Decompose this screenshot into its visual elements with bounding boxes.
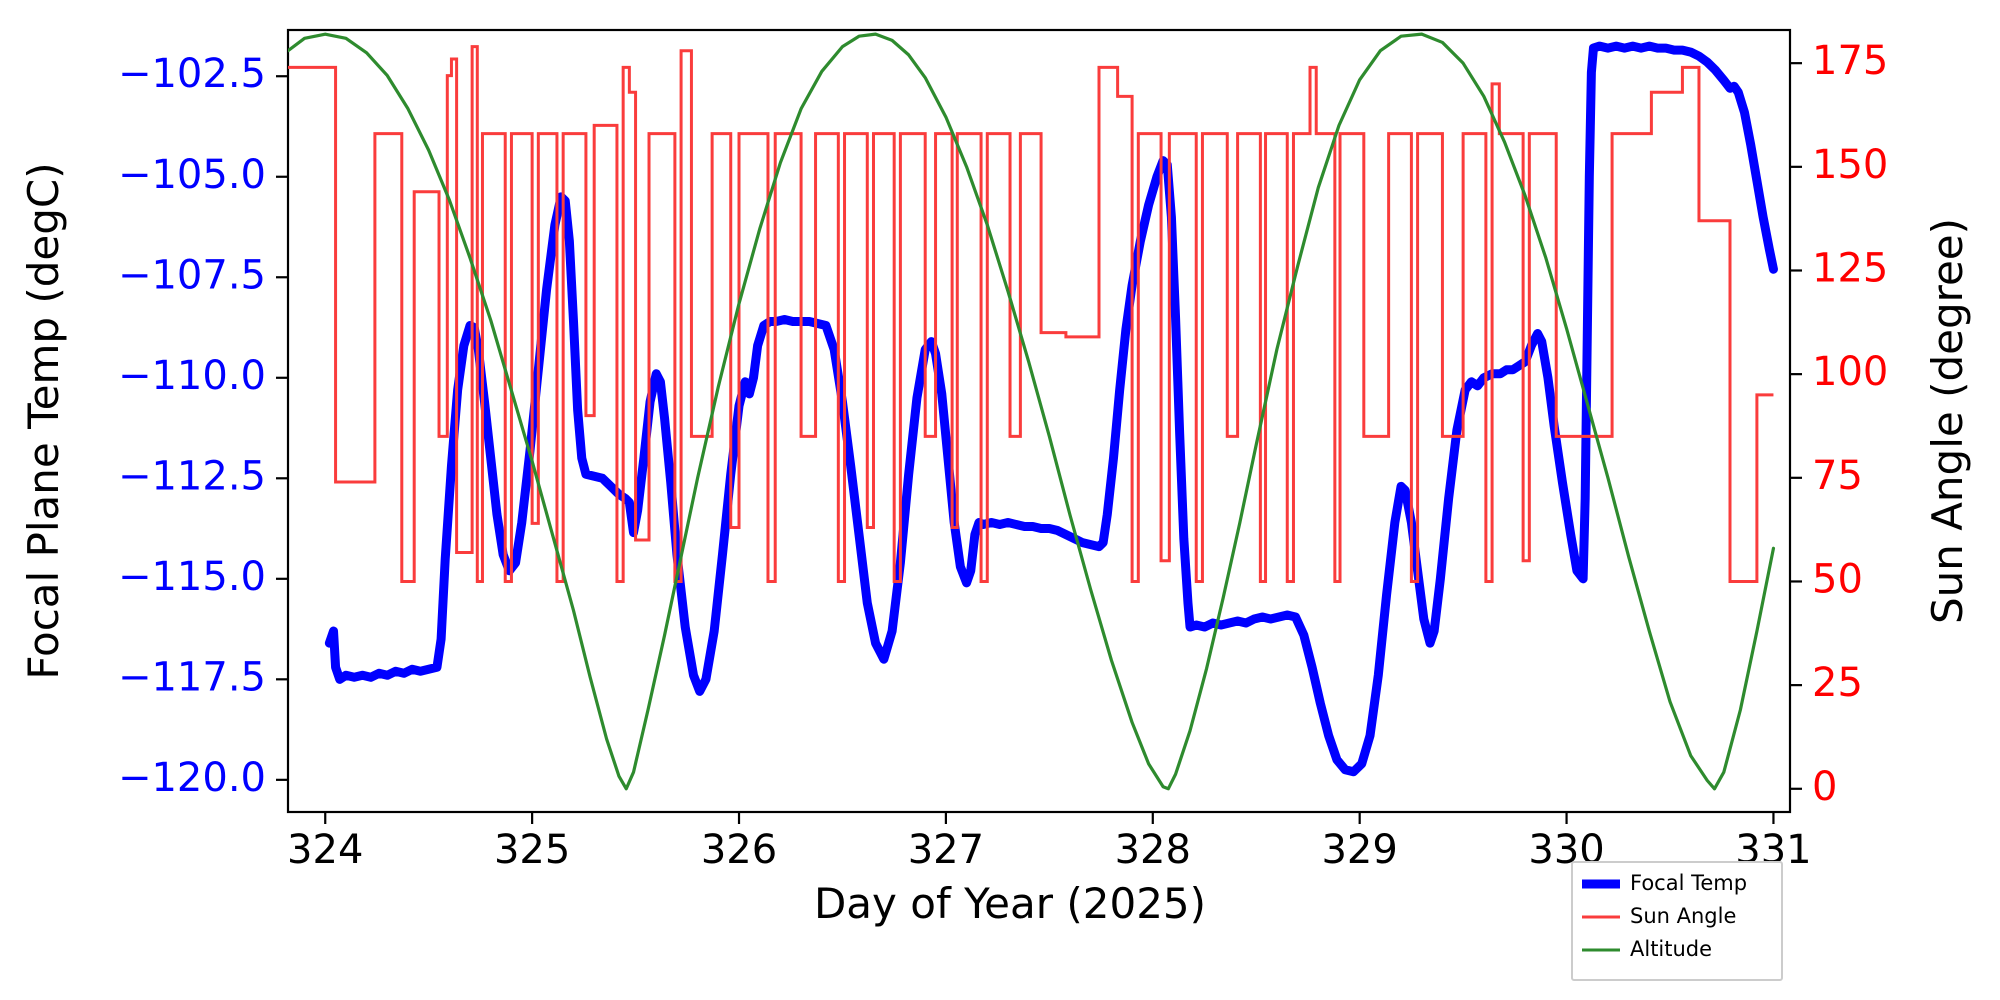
y-tick-label-left: −105.0 bbox=[118, 152, 266, 198]
x-tick-label: 328 bbox=[1115, 827, 1191, 873]
y-tick-label-right: 100 bbox=[1812, 349, 1888, 395]
x-tick-label: 325 bbox=[494, 827, 570, 873]
y-tick-label-right: 0 bbox=[1812, 764, 1837, 810]
y-tick-label-left: −102.5 bbox=[118, 51, 266, 97]
y-tick-label-left: −107.5 bbox=[118, 252, 266, 298]
y-tick-label-left: −120.0 bbox=[118, 755, 266, 801]
y-axis-right-title: Sun Angle (degree) bbox=[1923, 218, 1972, 624]
x-tick-label: 329 bbox=[1321, 827, 1397, 873]
y-tick-label-left: −115.0 bbox=[118, 554, 266, 600]
y-tick-label-right: 75 bbox=[1812, 453, 1863, 499]
x-tick-label: 324 bbox=[287, 827, 363, 873]
y-tick-label-left: −117.5 bbox=[118, 654, 266, 700]
y-tick-label-right: 50 bbox=[1812, 556, 1863, 602]
y-tick-label-right: 125 bbox=[1812, 245, 1888, 291]
chart-svg: −102.5−105.0−107.5−110.0−112.5−115.0−117… bbox=[0, 0, 2000, 1000]
x-tick-label: 327 bbox=[908, 827, 984, 873]
y-tick-label-left: −112.5 bbox=[118, 453, 266, 499]
x-tick-label: 326 bbox=[701, 827, 777, 873]
x-axis-title: Day of Year (2025) bbox=[814, 879, 1206, 928]
y-tick-label-right: 150 bbox=[1812, 142, 1888, 188]
y-tick-label-right: 175 bbox=[1812, 38, 1888, 84]
legend-label-sun-angle[interactable]: Sun Angle bbox=[1630, 904, 1736, 928]
legend-label-altitude[interactable]: Altitude bbox=[1630, 937, 1712, 961]
legend-label-focal-temp[interactable]: Focal Temp bbox=[1630, 871, 1747, 895]
chart-legend[interactable]: Focal TempSun AngleAltitude bbox=[1572, 862, 1782, 980]
y-tick-label-right: 25 bbox=[1812, 660, 1863, 706]
y-axis-left-title: Focal Plane Temp (degC) bbox=[19, 162, 68, 679]
chart-figure: −102.5−105.0−107.5−110.0−112.5−115.0−117… bbox=[0, 0, 2000, 1000]
y-tick-label-left: −110.0 bbox=[118, 353, 266, 399]
